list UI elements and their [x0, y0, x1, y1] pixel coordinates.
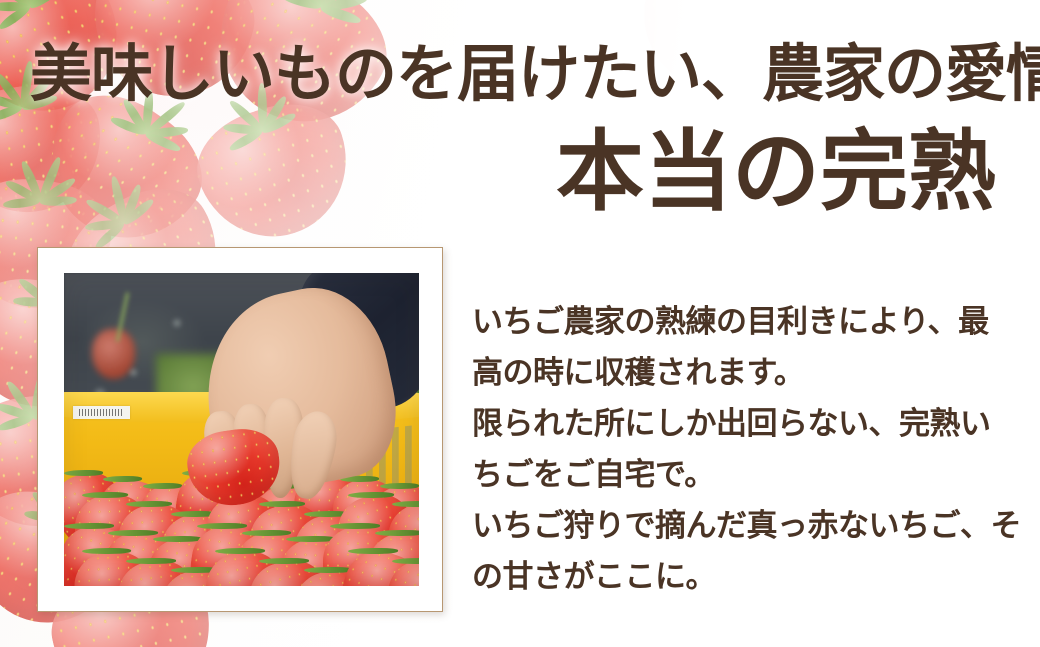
harvest-photo [64, 273, 419, 586]
photo-bokeh-dot [128, 367, 139, 378]
photo-strawberry-calyx [64, 470, 103, 476]
photo-strawberry-calyx [126, 558, 176, 564]
photo-bokeh-dot [171, 317, 183, 329]
body-line: の甘さがここに。 [472, 551, 1012, 602]
body-line: いちご農家の熟練の目利きにより、最 [472, 296, 1012, 347]
body-line: 高の時に収穫されます。 [472, 347, 1012, 398]
photo-strawberry-calyx [82, 492, 128, 498]
promo-banner: 美味しいものを届けたい、農家の愛情 本当の完熟 [0, 0, 1040, 647]
photo-strawberry-calyx [108, 530, 158, 536]
photo-strawberry-calyx [242, 530, 292, 536]
body-line: いちご狩りで摘んだ真っ赤ないちご、そ [472, 500, 1012, 551]
headline-secondary: 本当の完熟 [556, 130, 996, 218]
photo-strawberry-calyx [380, 483, 419, 489]
photo-frame [37, 247, 443, 612]
photo-strawberry-calyx [153, 536, 203, 542]
headline-primary: 美味しいものを届けたい、農家の愛情 [30, 44, 1040, 106]
body-line: 限られた所にしか出回らない、完熟い [472, 398, 1012, 449]
photo-strawberry-calyx [375, 530, 419, 536]
photo-strawberry-calyx [143, 483, 182, 489]
photo-strawberry-calyx [392, 558, 419, 564]
photo-strawberry-calyx [259, 558, 309, 564]
body-line: ちごをご自宅で。 [472, 449, 1012, 500]
photo-crate-label [73, 406, 130, 419]
body-copy: いちご農家の熟練の目利きにより、最 高の時に収穫されます。 限られた所にしか出回… [472, 296, 1012, 602]
photo-strawberry-calyx [348, 492, 394, 498]
